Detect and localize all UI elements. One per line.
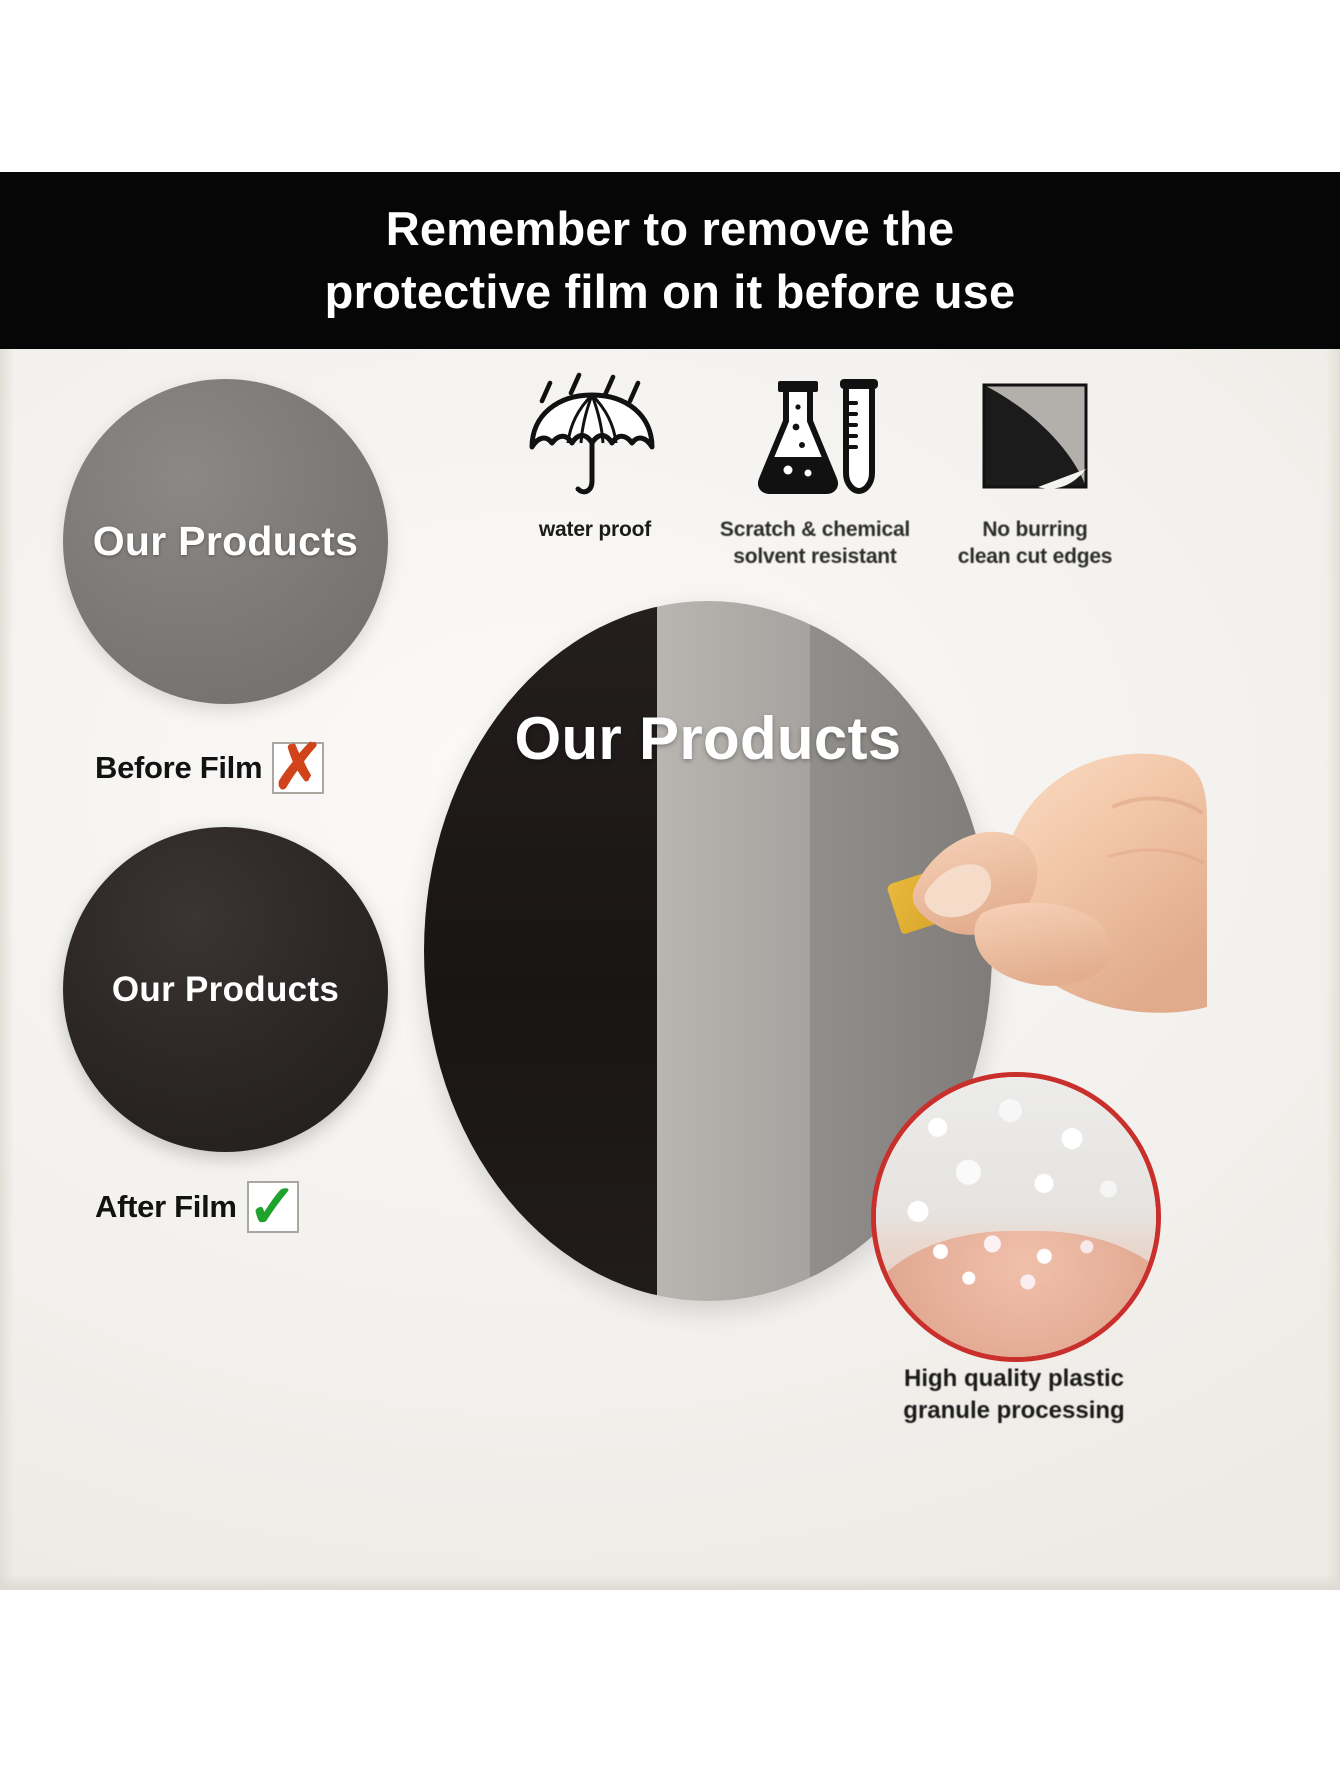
bottom-margin — [0, 1590, 1340, 1785]
after-film-product-disc: Our Products — [63, 827, 388, 1152]
check-icon: ✓ — [248, 1177, 298, 1237]
top-margin — [0, 0, 1340, 172]
granule-inset-photo — [871, 1072, 1161, 1362]
granule-caption-line-1: High quality plastic — [880, 1363, 1148, 1395]
hand-peeling-film — [862, 717, 1207, 1027]
before-film-status: Before Film ✗ — [95, 742, 324, 794]
sheet-edge-left — [0, 349, 14, 1590]
after-film-label: After Film — [95, 1189, 237, 1225]
feature-clean-cut-edges: No burring clean cut edges — [935, 367, 1135, 571]
granule-caption: High quality plastic granule processing — [880, 1363, 1148, 1426]
cross-mark-box: ✗ — [272, 742, 324, 794]
header-line-2: protective film on it before use — [325, 261, 1016, 324]
feature-caption-water-proof: water proof — [539, 516, 651, 543]
cross-icon: ✗ — [272, 737, 324, 799]
feature-caption-line-1: No burring — [958, 516, 1113, 543]
sheet-edge-bottom — [0, 1574, 1340, 1590]
feature-chemical-resistant: Scratch & chemical solvent resistant — [715, 367, 915, 571]
umbrella-rain-icon — [520, 367, 670, 502]
granule-caption-line-2: granule processing — [880, 1395, 1148, 1427]
feature-water-proof: water proof — [495, 367, 695, 543]
feature-caption-clean-cut-edges: No burring clean cut edges — [958, 516, 1113, 571]
cut-edge-sheet-icon — [960, 367, 1110, 502]
before-film-product-disc: Our Products — [63, 379, 388, 704]
feature-caption-line-2: clean cut edges — [958, 543, 1113, 570]
header-line-1: Remember to remove the — [386, 198, 955, 261]
before-film-label: Before Film — [95, 750, 262, 786]
product-photo-area: water proof — [0, 349, 1340, 1590]
product-marketing-poster: Remember to remove the protective film o… — [0, 0, 1340, 1785]
feature-caption-line-2: solvent resistant — [720, 543, 910, 570]
header-banner: Remember to remove the protective film o… — [0, 172, 1340, 349]
feature-caption-chemical-resistant: Scratch & chemical solvent resistant — [720, 516, 910, 571]
before-disc-label: Our Products — [93, 518, 359, 565]
after-film-status: After Film ✓ — [95, 1181, 299, 1233]
feature-icon-row: water proof — [495, 367, 1135, 602]
check-mark-box: ✓ — [247, 1181, 299, 1233]
sheet-edge-right — [1326, 349, 1340, 1590]
feature-caption-line-1: water proof — [539, 516, 651, 543]
flask-test-tube-icon — [740, 367, 890, 502]
feature-caption-line-1: Scratch & chemical — [720, 516, 910, 543]
after-disc-label: Our Products — [112, 970, 339, 1010]
granule-chips — [898, 1223, 1133, 1318]
